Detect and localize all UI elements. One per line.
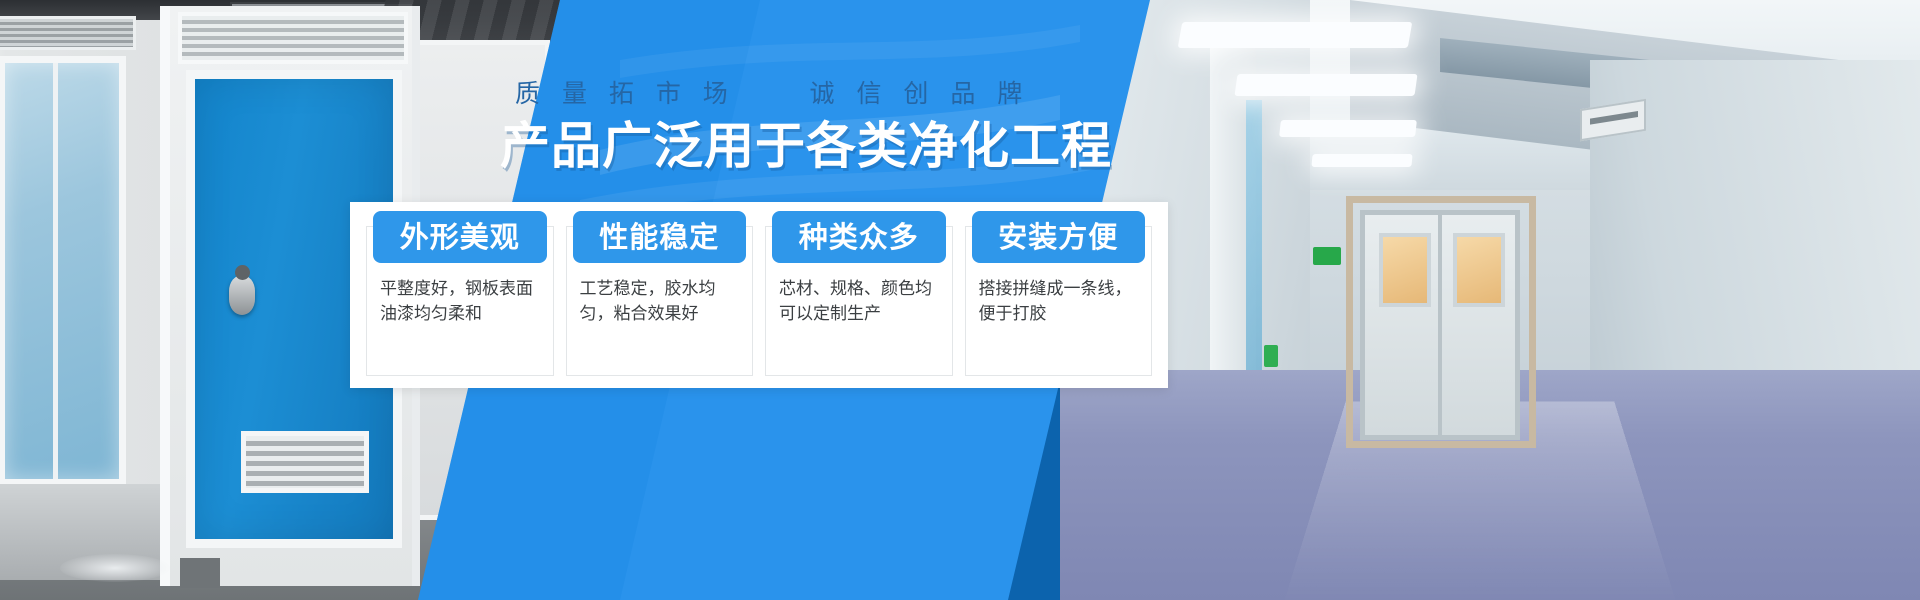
feature-card-body: 平整度好，钢板表面油漆均匀柔和: [367, 263, 553, 375]
feature-card[interactable]: 外形美观 平整度好，钢板表面油漆均匀柔和: [366, 226, 554, 376]
cabin-left-vent: [0, 16, 136, 50]
feature-card-header: 性能稳定: [573, 211, 747, 263]
feature-card[interactable]: 安装方便 搭接拼缝成一条线，便于打胶: [965, 226, 1153, 376]
promo-banner: 质 量 拓 市 场 诚 信 创 品 牌 产品广泛用于各类净化工程 外形美观 平整…: [0, 0, 1920, 600]
feature-card-header: 安装方便: [972, 211, 1146, 263]
door-lock-icon: [235, 265, 250, 280]
feature-card-title: 外形美观: [400, 222, 520, 252]
corridor-double-door: [1360, 210, 1520, 440]
floor-reflection: [60, 554, 170, 582]
feature-card-header: 种类众多: [772, 211, 946, 263]
sign-text-line: [1590, 111, 1638, 125]
feature-card[interactable]: 性能稳定 工艺稳定，胶水均匀，粘合效果好: [566, 226, 754, 376]
feature-card-title: 安装方便: [998, 222, 1118, 252]
cabin-left-glass-panel: [0, 56, 126, 486]
feature-card-title: 性能稳定: [599, 222, 719, 252]
door-window-left: [1379, 233, 1431, 307]
feature-card[interactable]: 种类众多 芯材、规格、颜色均可以定制生产: [765, 226, 953, 376]
door-handle-icon: [229, 275, 255, 315]
ceiling-lamp-icon: [1234, 74, 1417, 96]
ceiling-lamp-icon: [1311, 154, 1412, 167]
cabin-main-top-louvre: [178, 12, 408, 64]
ceiling-lamp-icon: [1279, 120, 1417, 137]
right-product-photo: [1060, 0, 1920, 600]
exit-sign-icon: [1313, 247, 1341, 265]
door-window-right: [1453, 233, 1505, 307]
feature-card-body: 工艺稳定，胶水均匀，粘合效果好: [567, 263, 753, 375]
feature-card-header: 外形美观: [373, 211, 547, 263]
feature-cards-row: 外形美观 平整度好，钢板表面油漆均匀柔和 性能稳定 工艺稳定，胶水均匀，粘合效果…: [350, 202, 1168, 388]
wall-fixture-icon: [1264, 345, 1278, 367]
ceiling-lamp-icon: [1178, 22, 1413, 48]
cabin-main-foot: [180, 558, 220, 588]
feature-card-title: 种类众多: [799, 222, 919, 252]
door-bottom-vent: [241, 431, 369, 493]
cabin-left-unit: [0, 20, 170, 580]
feature-card-body: 芯材、规格、颜色均可以定制生产: [766, 263, 952, 375]
feature-card-body: 搭接拼缝成一条线，便于打胶: [966, 263, 1152, 375]
